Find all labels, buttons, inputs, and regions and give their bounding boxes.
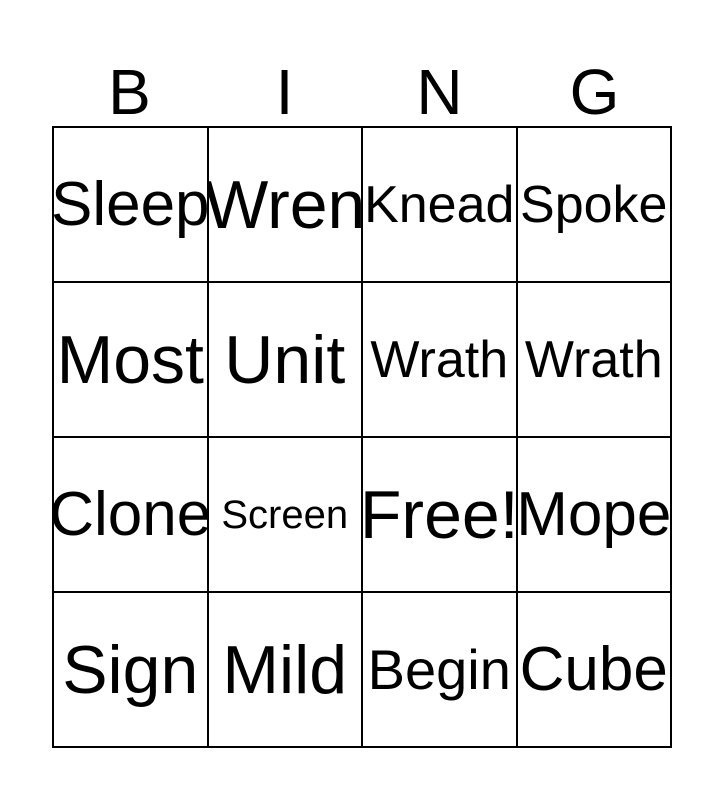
bingo-cell-label: Wrath (523, 334, 665, 386)
bingo-header-letter-n: N (362, 58, 517, 126)
bingo-card: B I N G Sleep Wren Knead Spoke Most Unit… (0, 0, 723, 800)
bingo-cell[interactable]: Screen (209, 438, 364, 593)
bingo-cell[interactable]: Sleep (54, 128, 209, 283)
bingo-cell[interactable]: Wrath (363, 283, 518, 438)
bingo-cell-label: Clone (54, 484, 209, 546)
bingo-cell-label: Sign (60, 636, 200, 704)
bingo-cell-label: Wren (209, 171, 364, 239)
bingo-cell-free-space[interactable]: Free! (363, 438, 518, 593)
bingo-cell-label: Mope (518, 484, 673, 546)
bingo-cell[interactable]: Unit (209, 283, 364, 438)
bingo-cell-label: Begin (366, 642, 513, 698)
bingo-cell-label: Cube (518, 639, 670, 701)
bingo-cell[interactable]: Wrath (518, 283, 673, 438)
bingo-cell-label: Knead (363, 179, 516, 231)
bingo-cell[interactable]: Cube (518, 593, 673, 748)
bingo-cell[interactable]: Knead (363, 128, 518, 283)
bingo-cell[interactable]: Wren (209, 128, 364, 283)
bingo-cell[interactable]: Sign (54, 593, 209, 748)
bingo-header-letter-b: B (52, 58, 207, 126)
bingo-cell[interactable]: Mild (209, 593, 364, 748)
bingo-cell[interactable]: Mope (518, 438, 673, 593)
bingo-cell-label: Mild (220, 636, 349, 704)
bingo-cell[interactable]: Begin (363, 593, 518, 748)
bingo-cell-label: Most (55, 326, 206, 394)
bingo-cell-label: Wrath (368, 334, 510, 386)
bingo-grid: Sleep Wren Knead Spoke Most Unit Wrath W… (52, 126, 672, 748)
bingo-cell-label: Spoke (518, 179, 669, 231)
bingo-cell[interactable]: Spoke (518, 128, 673, 283)
bingo-cell-label: Free! (363, 481, 518, 549)
bingo-cell-label: Sleep (54, 174, 209, 236)
bingo-cell-label: Screen (219, 495, 350, 535)
bingo-header-letter-i: I (207, 58, 362, 126)
bingo-header-row: B I N G (52, 36, 672, 126)
bingo-cell[interactable]: Most (54, 283, 209, 438)
bingo-cell[interactable]: Clone (54, 438, 209, 593)
bingo-header-letter-g: G (517, 58, 672, 126)
bingo-cell-label: Unit (222, 326, 347, 394)
